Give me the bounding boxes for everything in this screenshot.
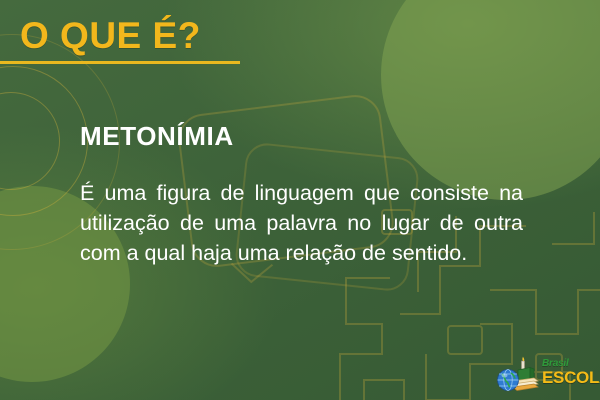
content-block: METONÍMIA É uma figura de linguagem que … bbox=[80, 120, 523, 268]
subject-heading: METONÍMIA bbox=[80, 120, 523, 152]
slide-canvas: O QUE É? METONÍMIA É uma figura de lingu… bbox=[0, 0, 600, 400]
title-underline-rule bbox=[0, 61, 240, 64]
globe-books-candle-icon bbox=[496, 356, 542, 394]
decorative-ring-middle bbox=[0, 66, 88, 216]
page-title: O QUE É? bbox=[20, 14, 201, 58]
brasil-escola-logo[interactable]: Brasil ESCOLA bbox=[496, 356, 594, 394]
definition-paragraph: É uma figura de linguagem que consiste n… bbox=[80, 178, 523, 268]
logo-wordmark: Brasil ESCOLA bbox=[542, 358, 596, 387]
decorative-ring-inner bbox=[0, 92, 60, 190]
logo-escola-text: ESCOLA bbox=[542, 369, 596, 387]
